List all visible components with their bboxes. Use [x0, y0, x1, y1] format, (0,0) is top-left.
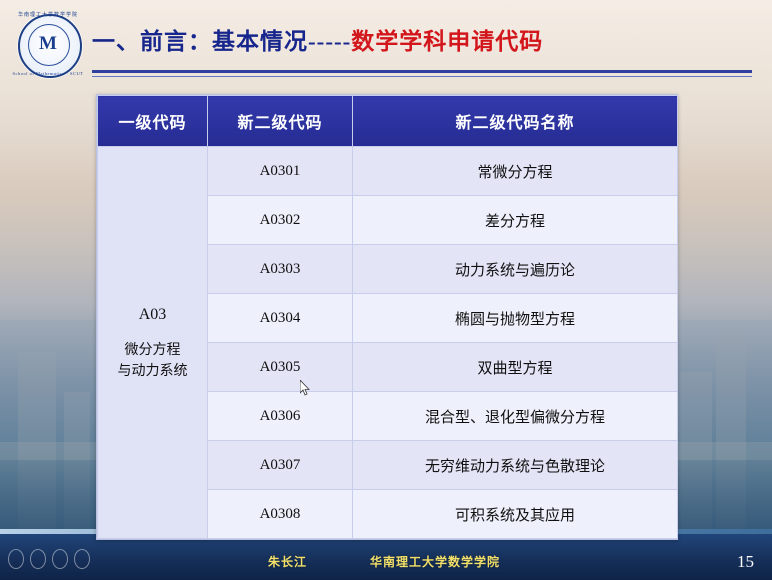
group-name-line2: 与动力系统 [99, 361, 206, 382]
logo-bottom-text: School of Mathematics · SCUT [12, 71, 84, 76]
row-code: A0302 [208, 196, 353, 245]
table-header-level2-name: 新二级代码名称 [353, 96, 678, 147]
table-header-level2: 新二级代码 [208, 96, 353, 147]
footer-presenter: 朱长江 [268, 553, 307, 570]
page-number: 15 [737, 552, 754, 572]
code-table-container: 一级代码 新二级代码 新二级代码名称 A03 微分方程 与动力系统 A0301 … [96, 94, 678, 540]
page-title: 一、前言：基本情况-----数学学科申请代码 [92, 22, 692, 56]
row-name: 双曲型方程 [353, 343, 678, 392]
row-name: 无穷维动力系统与色散理论 [353, 441, 678, 490]
slide: 朱长江 华南理工大学数学学院 15 M 华南理工大学数学学院 School of… [0, 0, 772, 580]
row-code: A0301 [208, 147, 353, 196]
logo-ring-text: 华南理工大学数学学院 School of Mathematics · SCUT [12, 8, 84, 80]
row-name: 常微分方程 [353, 147, 678, 196]
title-underline-thin [92, 76, 752, 77]
footer-decoration [8, 549, 90, 569]
row-name: 椭圆与抛物型方程 [353, 294, 678, 343]
footer-organization: 华南理工大学数学学院 [370, 553, 500, 570]
title-secondary: 数学学科申请代码 [351, 29, 543, 54]
row-code: A0307 [208, 441, 353, 490]
code-table: 一级代码 新二级代码 新二级代码名称 A03 微分方程 与动力系统 A0301 … [97, 95, 678, 539]
logo-top-text: 华南理工大学数学学院 [12, 11, 84, 18]
university-logo: M 华南理工大学数学学院 School of Mathematics · SCU… [12, 8, 84, 80]
group-name-line1: 微分方程 [99, 340, 206, 361]
row-code: A0305 [208, 343, 353, 392]
row-name: 动力系统与遍历论 [353, 245, 678, 294]
row-name: 差分方程 [353, 196, 678, 245]
row-code: A0308 [208, 490, 353, 539]
table-row: A03 微分方程 与动力系统 A0301 常微分方程 [98, 147, 678, 196]
title-underline [92, 70, 752, 73]
row-code: A0303 [208, 245, 353, 294]
table-header-row: 一级代码 新二级代码 新二级代码名称 [98, 96, 678, 147]
row-name: 可积系统及其应用 [353, 490, 678, 539]
row-name: 混合型、退化型偏微分方程 [353, 392, 678, 441]
table-header-level1: 一级代码 [98, 96, 208, 147]
group-cell: A03 微分方程 与动力系统 [98, 147, 208, 539]
row-code: A0304 [208, 294, 353, 343]
title-primary: 一、前言：基本情况----- [92, 29, 351, 54]
group-code: A03 [99, 303, 206, 328]
row-code: A0306 [208, 392, 353, 441]
